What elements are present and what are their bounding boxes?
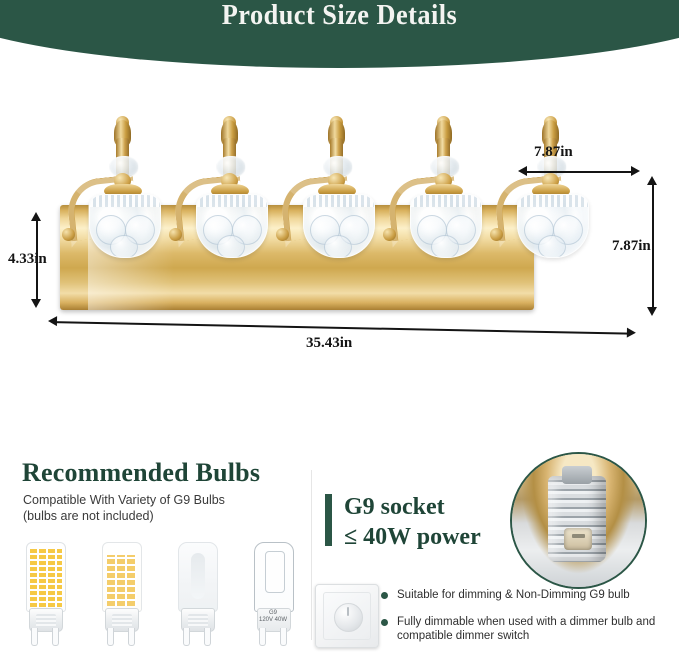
- socket-spec-line-1: G9 socket: [344, 492, 481, 522]
- bulb-pin: [280, 628, 287, 646]
- shade-facet: [324, 235, 352, 258]
- bulb-glass: [102, 542, 142, 612]
- shade-facet: [431, 235, 459, 258]
- dimming-bullet-list: Suitable for dimming & Non-Dimming G9 bu…: [381, 588, 671, 655]
- lamp-arm-ball: [62, 228, 75, 241]
- lamp-arm-ball: [490, 228, 503, 241]
- socket-spec-text: G9 socket ≤ 40W power: [344, 492, 481, 552]
- crystal-shade: [517, 194, 589, 258]
- crystal-shade: [89, 194, 161, 258]
- lamp-assembly-4: [383, 116, 483, 306]
- bulb-stamp: G9 120V 40W: [256, 610, 290, 624]
- lamp-arm-ball: [276, 228, 289, 241]
- bulb-base-ridge: [112, 614, 132, 627]
- arrow-head-down-icon: [647, 307, 657, 316]
- bullet-dot-icon: [381, 619, 388, 626]
- list-item-label: Suitable for dimming & Non-Dimming G9 bu…: [397, 589, 630, 601]
- g9-socket-closeup-photo: [510, 452, 647, 589]
- dimension-label-backplate-height: 4.33in: [8, 251, 47, 268]
- recommended-bulbs-subtext: Compatible With Variety of G9 Bulbs (bul…: [23, 492, 225, 524]
- lamp-arm-ball: [169, 228, 182, 241]
- bulb-base-ridge: [36, 614, 56, 627]
- socket-spec-line-2: ≤ 40W power: [344, 522, 481, 552]
- bulb-glass: [178, 542, 218, 612]
- frosted-g9-bulb-icon: [166, 540, 228, 645]
- bulb-base-ridge: [188, 614, 208, 627]
- lamp-assembly-3: [276, 116, 376, 306]
- halogen-g9-bulb-icon: G9 120V 40W: [242, 540, 304, 645]
- arrow-head-down-icon: [31, 299, 41, 308]
- dimension-label-overall-width: 35.43in: [306, 335, 352, 352]
- arrow-head-right-icon: [627, 328, 636, 338]
- bulb-stamp-line-2: 120V 40W: [256, 617, 290, 624]
- spec-accent-bar: [325, 494, 332, 546]
- bullet-dot-icon: [381, 592, 388, 599]
- subtext-line-1: Compatible With Variety of G9 Bulbs: [23, 492, 225, 508]
- bulb-pin: [31, 628, 38, 646]
- page-title: Product Size Details: [0, 0, 679, 32]
- list-item: Fully dimmable when used with a dimmer b…: [381, 615, 671, 644]
- led-chips: [107, 555, 137, 606]
- bulb-illustrations: G9 120V 40W: [14, 540, 304, 645]
- list-item-label: Fully dimmable when used with a dimmer b…: [397, 616, 655, 643]
- arrow-head-right-icon: [631, 166, 640, 176]
- bulb-pin: [183, 628, 190, 646]
- bulb-pin: [259, 628, 266, 646]
- lamp-assembly-1: [62, 116, 162, 306]
- crystal-shade: [303, 194, 375, 258]
- socket-contact-hole: [564, 528, 592, 550]
- arrow-shaft: [524, 171, 634, 173]
- bulb-pin: [107, 628, 114, 646]
- bulb-glass: [254, 542, 294, 612]
- led-warm-g9-bulb-icon: [90, 540, 152, 645]
- crystal-shade: [410, 194, 482, 258]
- bulb-glass: [26, 542, 66, 612]
- bulb-stamp-line-1: G9: [256, 610, 290, 617]
- subtext-line-2: (bulbs are not included): [23, 508, 225, 524]
- dimension-label-light-spacing: 7.87in: [534, 144, 573, 161]
- recommended-bulbs-heading: Recommended Bulbs: [22, 458, 260, 488]
- dimmer-switch-illustration: [315, 584, 379, 648]
- shade-facet: [538, 235, 566, 258]
- lamp-arm-ball: [383, 228, 396, 241]
- bulb-pin: [204, 628, 211, 646]
- shade-facet: [110, 235, 138, 258]
- led-chips: [30, 547, 62, 607]
- bulb-pin: [52, 628, 59, 646]
- product-size-details-infographic: Product Size Details: [0, 0, 679, 655]
- dimension-arrow-light-spacing: [518, 165, 640, 178]
- shade-facet: [217, 235, 245, 258]
- header-banner: Product Size Details: [0, 0, 679, 68]
- list-item: Suitable for dimming & Non-Dimming G9 bu…: [381, 588, 671, 603]
- dimension-label-fixture-height: 7.87in: [612, 238, 651, 255]
- section-divider: [311, 470, 312, 640]
- led-bright-g9-bulb-icon: [14, 540, 76, 645]
- dimmer-knob-icon: [334, 603, 363, 632]
- bulb-pin: [128, 628, 135, 646]
- crystal-shade: [196, 194, 268, 258]
- arrow-shaft: [652, 182, 654, 310]
- lamp-assembly-2: [169, 116, 269, 306]
